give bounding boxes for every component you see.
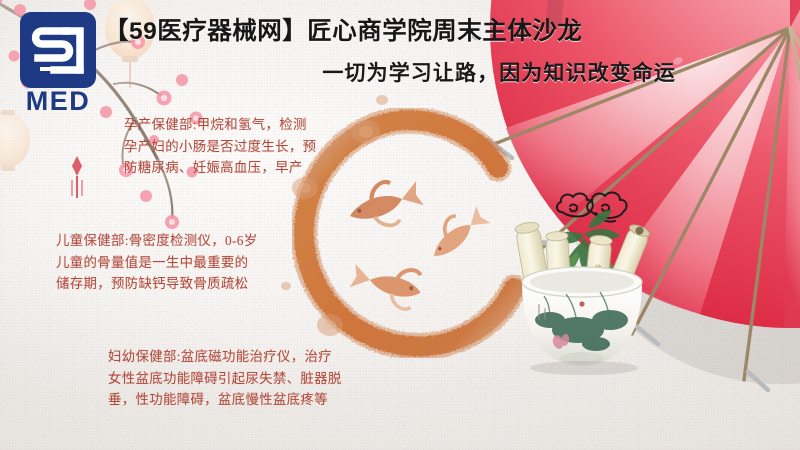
poster-title: 【59医疗器械网】匠心商学院周末主体沙龙 bbox=[104, 16, 684, 49]
note-child-health: 儿童保健部:骨密度检测仪，0-6岁 儿童的骨量值是一生中最重要的 储存期，预防缺… bbox=[56, 230, 258, 295]
poster-subtitle: 一切为学习让路，因为知识改变命运 bbox=[104, 60, 684, 88]
poster-canvas: 論 bbox=[0, 0, 800, 450]
brand-logo: MED bbox=[18, 12, 100, 114]
logo-mark-background bbox=[20, 12, 96, 88]
note-women-and-children-health: 妇幼保健部:盆底磁功能治疗仪，治疗 女性盆底功能障碍引起尿失禁、脏器脱 垂，性功… bbox=[108, 346, 342, 411]
logo-wordmark: MED bbox=[26, 86, 91, 114]
note-maternity-health: 孕产保健部:甲烷和氢气，检测 孕产妇的小肠是否过度生长，预 防糖尿病、妊娠高血压… bbox=[124, 114, 316, 179]
header-text-block: 【59医疗器械网】匠心商学院周末主体沙龙 一切为学习让路，因为知识改变命运 bbox=[104, 16, 684, 88]
